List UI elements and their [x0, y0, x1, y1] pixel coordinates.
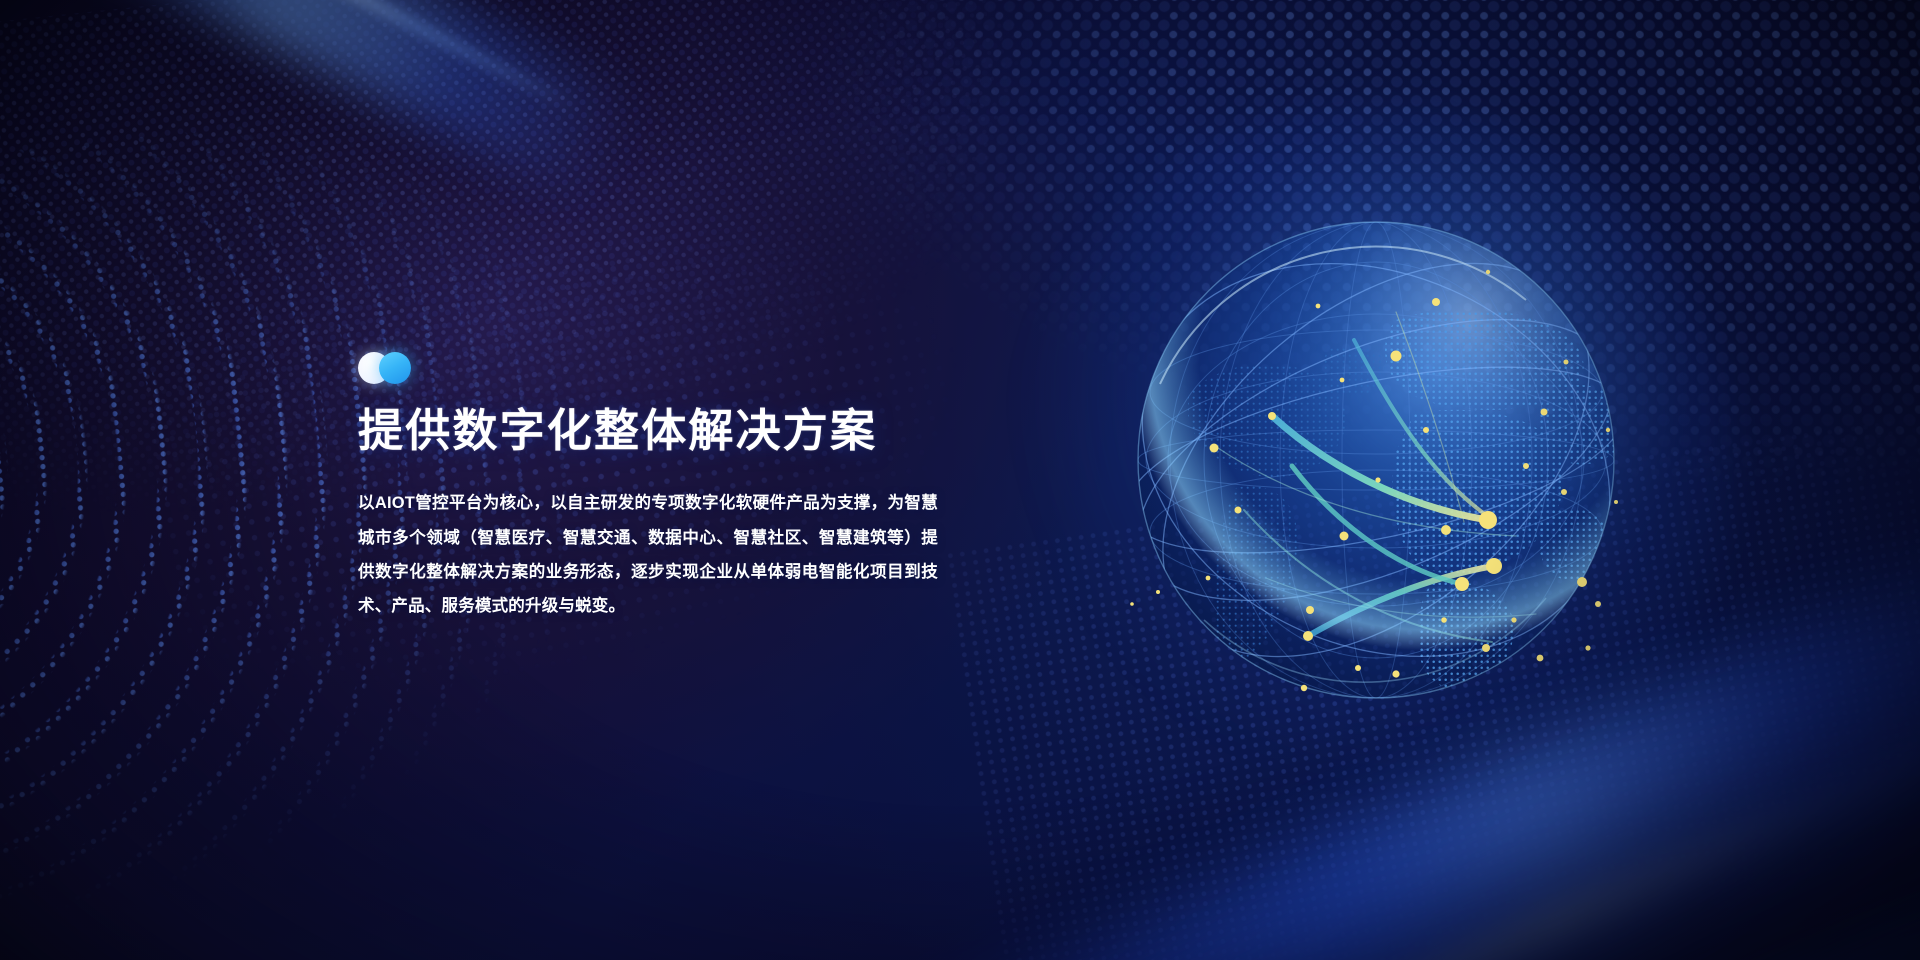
brand-dot-cyan-icon	[379, 352, 411, 384]
light-streak-top-left	[0, 0, 648, 208]
globe-graphic	[1096, 180, 1656, 740]
hero-content: 提供数字化整体解决方案 以AIOT管控平台为核心，以自主研发的专项数字化软硬件产…	[358, 352, 958, 624]
hero-banner: 提供数字化整体解决方案 以AIOT管控平台为核心，以自主研发的专项数字化软硬件产…	[0, 0, 1920, 960]
digital-globe	[1096, 180, 1656, 740]
light-streak-top-left-core	[0, 0, 578, 113]
page-title: 提供数字化整体解决方案	[358, 406, 958, 456]
brand-dots-icon	[358, 352, 422, 384]
hero-description: 以AIOT管控平台为核心，以自主研发的专项数字化软硬件产品为支撑，为智慧城市多个…	[358, 486, 938, 623]
